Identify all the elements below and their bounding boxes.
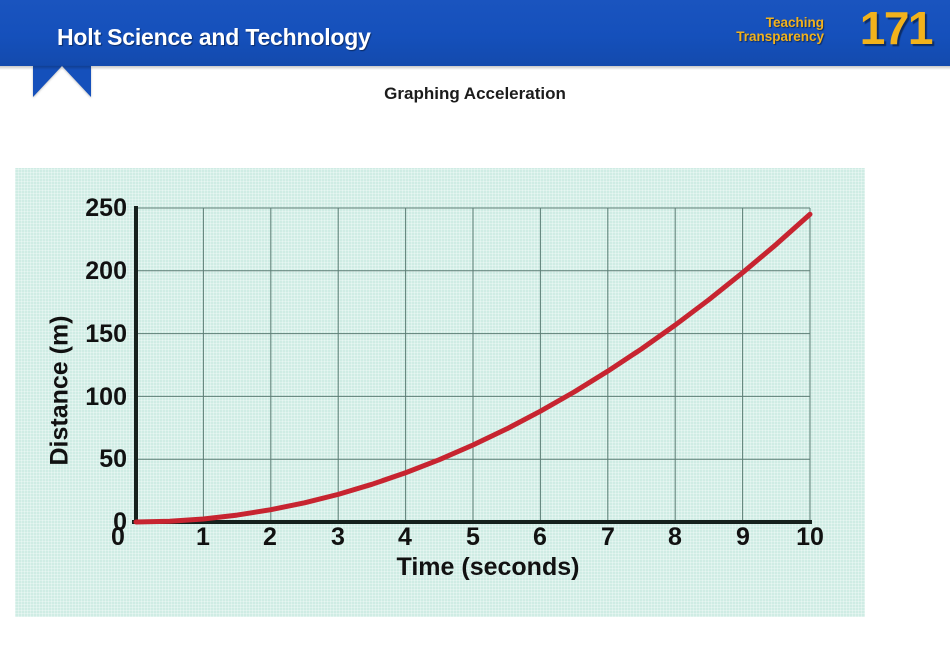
transparency-number: 171 — [860, 2, 932, 54]
teaching-label-line1: Teaching — [766, 15, 824, 30]
x-tick-label-5: 5 — [448, 523, 498, 552]
x-tick-label-2: 2 — [245, 523, 295, 552]
header-drop-shadow — [0, 66, 950, 70]
x-tick-label-1: 1 — [178, 523, 228, 552]
chart-panel: 250 200 150 100 50 0 0 1 2 3 4 5 6 7 8 9… — [15, 168, 865, 617]
figure-title: Graphing Acceleration — [0, 84, 950, 104]
header-bar: Holt Science and Technology Teaching Tra… — [0, 0, 950, 66]
x-tick-label-3: 3 — [313, 523, 363, 552]
x-tick-label-8: 8 — [650, 523, 700, 552]
x-tick-label-0: 0 — [93, 523, 143, 552]
x-tick-label-9: 9 — [718, 523, 768, 552]
y-tick-label-250: 250 — [59, 194, 127, 223]
x-axis-title: Time (seconds) — [151, 553, 825, 582]
teaching-label-line2: Transparency — [684, 30, 824, 44]
brand-title: Holt Science and Technology — [57, 24, 371, 51]
x-tick-label-7: 7 — [583, 523, 633, 552]
x-tick-label-4: 4 — [380, 523, 430, 552]
x-tick-label-10: 10 — [785, 523, 835, 552]
y-axis-title: Distance (m) — [46, 291, 75, 491]
teaching-transparency-label: Teaching Transparency — [684, 16, 824, 43]
chart-gridlines — [136, 208, 810, 522]
x-tick-label-6: 6 — [515, 523, 565, 552]
y-tick-label-200: 200 — [59, 257, 127, 286]
